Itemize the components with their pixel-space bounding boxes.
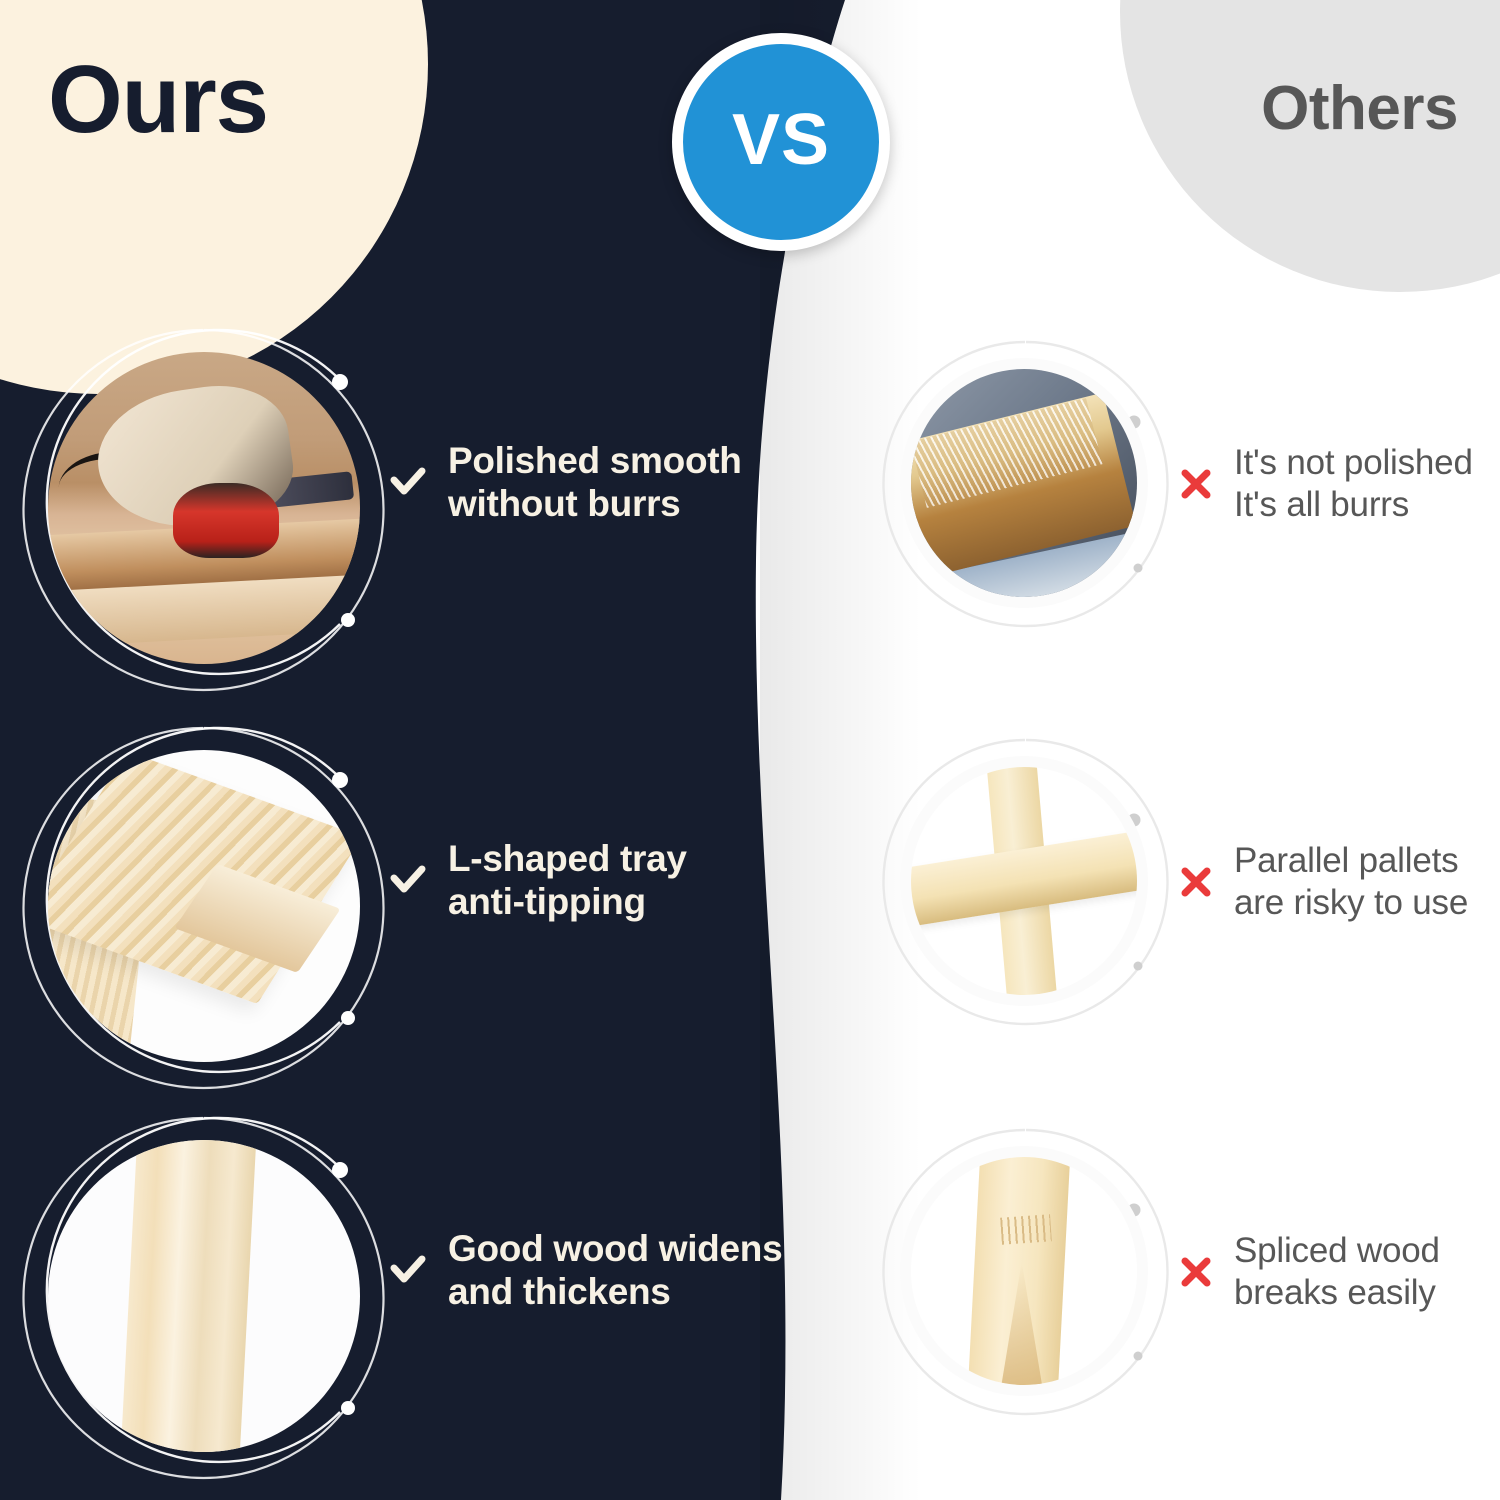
others-feature-1-text: It's not polished It's all burrs xyxy=(1234,442,1473,526)
others-feature-3-text: Spliced wood breaks easily xyxy=(1234,1230,1440,1314)
ours-image-2 xyxy=(48,750,360,1062)
others-image-2 xyxy=(900,756,1148,1006)
others-feature-2-line2: are risky to use xyxy=(1234,882,1468,924)
check-icon xyxy=(388,463,428,503)
ours-feature-2-text: L-shaped tray anti-tipping xyxy=(448,838,687,924)
vs-label: VS xyxy=(732,104,830,176)
ours-feature-2: L-shaped tray anti-tipping xyxy=(388,838,788,924)
ours-heading: Ours xyxy=(48,52,268,148)
vs-badge: VS xyxy=(672,33,890,251)
others-image-3 xyxy=(900,1146,1148,1396)
ours-feature-1-line2: without burrs xyxy=(448,483,742,526)
cross-icon xyxy=(1178,466,1214,502)
ours-feature-3-line2: and thickens xyxy=(448,1271,782,1314)
photo-crossed-pallets xyxy=(911,767,1137,995)
others-feature-1-line1: It's not polished xyxy=(1234,442,1473,484)
others-feature-2-line1: Parallel pallets xyxy=(1234,840,1468,882)
others-feature-3-line2: breaks easily xyxy=(1234,1272,1440,1314)
photo-burr-wood xyxy=(911,369,1137,597)
comparison-row-2: L-shaped tray anti-tipping Parallel pall… xyxy=(0,728,1500,1088)
comparison-infographic: Ours Others VS Polished smooth wit xyxy=(0,0,1500,1500)
others-feature-1-line2: It's all burrs xyxy=(1234,484,1473,526)
others-feature-3: Spliced wood breaks easily xyxy=(1178,1230,1498,1314)
ours-feature-1: Polished smooth without burrs xyxy=(388,440,788,526)
others-feature-2-text: Parallel pallets are risky to use xyxy=(1234,840,1468,924)
photo-spliced-wood xyxy=(911,1157,1137,1385)
ours-feature-3-line1: Good wood widens xyxy=(448,1228,782,1271)
cross-icon xyxy=(1178,1254,1214,1290)
ours-image-1 xyxy=(48,352,360,664)
others-image-1 xyxy=(900,358,1148,608)
photo-l-shaped-tray xyxy=(48,750,360,1062)
cross-icon xyxy=(1178,864,1214,900)
others-feature-3-line1: Spliced wood xyxy=(1234,1230,1440,1272)
ours-feature-3-text: Good wood widens and thickens xyxy=(448,1228,782,1314)
ours-feature-1-text: Polished smooth without burrs xyxy=(448,440,742,526)
ours-feature-2-line2: anti-tipping xyxy=(448,881,687,924)
others-feature-1: It's not polished It's all burrs xyxy=(1178,442,1498,526)
ours-feature-1-line1: Polished smooth xyxy=(448,440,742,483)
comparison-row-1: Polished smooth without burrs It's not p… xyxy=(0,330,1500,690)
ours-image-3 xyxy=(48,1140,360,1452)
others-feature-2: Parallel pallets are risky to use xyxy=(1178,840,1498,924)
check-icon xyxy=(388,1251,428,1291)
ours-feature-2-line1: L-shaped tray xyxy=(448,838,687,881)
ours-feature-3: Good wood widens and thickens xyxy=(388,1228,788,1314)
comparison-row-3: Good wood widens and thickens Spliced wo… xyxy=(0,1118,1500,1478)
photo-sanding-wood xyxy=(48,352,360,664)
photo-thick-plank xyxy=(48,1140,360,1452)
check-icon xyxy=(388,861,428,901)
others-heading: Others xyxy=(1261,78,1458,140)
